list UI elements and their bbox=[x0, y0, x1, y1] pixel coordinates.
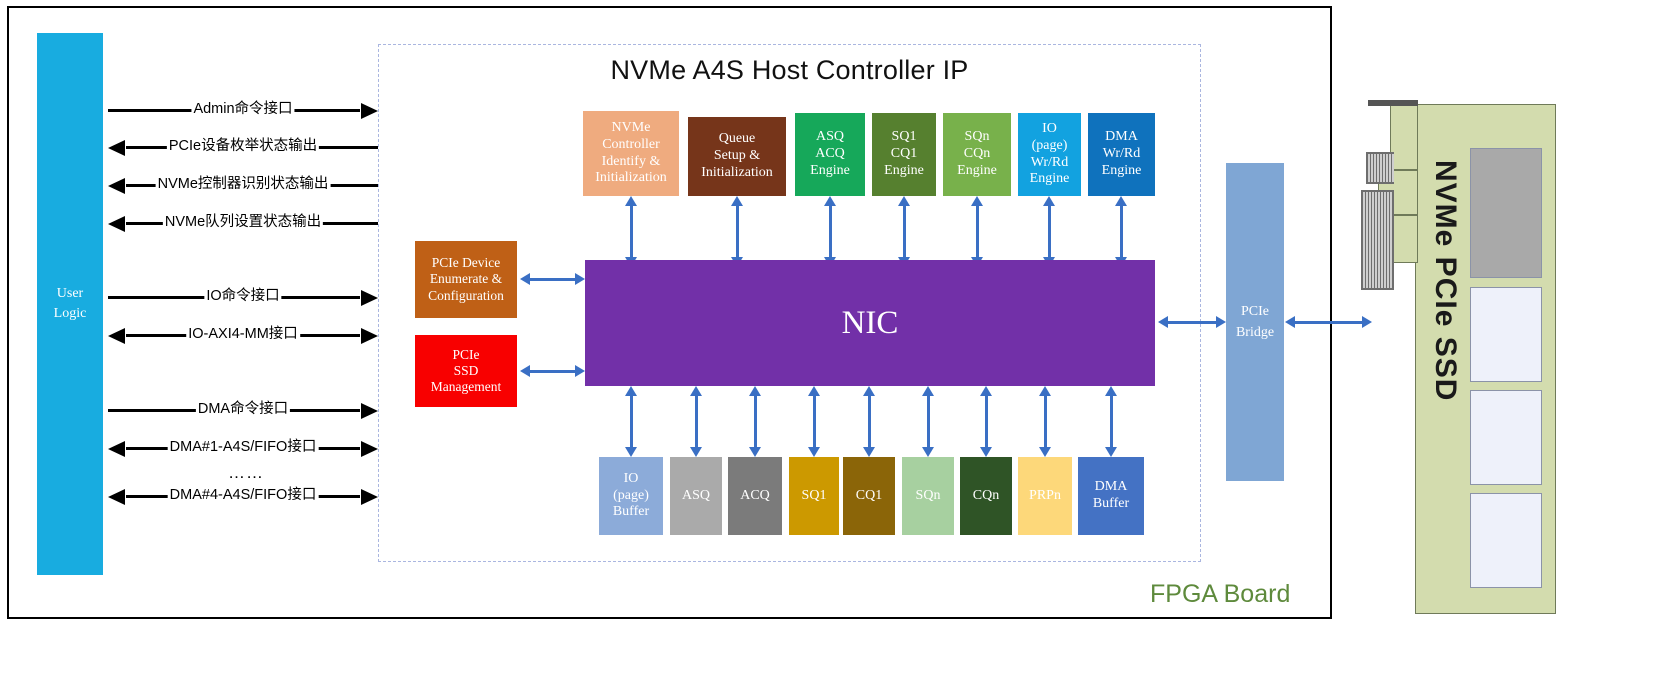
arrow-head-left bbox=[108, 441, 125, 457]
connector-line bbox=[1110, 395, 1113, 448]
connector-arrow-up bbox=[1105, 386, 1117, 396]
connector-line bbox=[754, 395, 757, 448]
connector-arrow-right bbox=[1362, 316, 1372, 328]
connector-arrow-down bbox=[808, 447, 820, 457]
connector-arrow-up bbox=[731, 196, 743, 206]
engine-block: SQnCQnEngine bbox=[943, 113, 1011, 196]
connector-arrow-down bbox=[922, 447, 934, 457]
buffer-block: CQn bbox=[960, 457, 1012, 535]
connector-line bbox=[1044, 395, 1047, 448]
connector-arrow-up bbox=[749, 386, 761, 396]
engine-block-label: SQnCQnEngine bbox=[957, 129, 997, 179]
connector-arrow-up bbox=[808, 386, 820, 396]
engine-block-label: SQ1CQ1Engine bbox=[884, 129, 924, 179]
connector-line bbox=[985, 395, 988, 448]
ssd-chip bbox=[1470, 287, 1542, 382]
ellipsis-label: …… bbox=[228, 463, 264, 483]
connector-arrow-down bbox=[1039, 447, 1051, 457]
connector-arrow-up bbox=[1039, 386, 1051, 396]
connector-line bbox=[976, 205, 979, 258]
connector-line bbox=[695, 395, 698, 448]
engine-block-label: QueueSetup &Initialization bbox=[701, 131, 773, 181]
interface-label: PCIe设备枚举状态输出 bbox=[167, 134, 319, 155]
engine-block: ASQACQEngine bbox=[795, 113, 865, 196]
connector-arrow-up bbox=[971, 196, 983, 206]
arrow-head-left bbox=[108, 178, 125, 194]
connector-arrow-down bbox=[690, 447, 702, 457]
connector-line bbox=[736, 205, 739, 258]
ssd-bracket-lower bbox=[1390, 215, 1418, 263]
engine-block-label: ASQACQEngine bbox=[810, 129, 850, 179]
interface-label: NVMe队列设置状态输出 bbox=[163, 210, 323, 231]
connector-line bbox=[903, 205, 906, 258]
connector-line bbox=[1167, 321, 1217, 324]
arrow-head-right bbox=[361, 290, 378, 306]
interface-label: Admin命令接口 bbox=[191, 97, 294, 118]
connector-arrow-up bbox=[922, 386, 934, 396]
connector-arrow-left bbox=[520, 365, 530, 377]
interface-arrow: IO命令接口 bbox=[108, 289, 378, 305]
user-logic-block: UserLogic bbox=[37, 33, 103, 575]
connector-arrow-right bbox=[575, 365, 585, 377]
interface-label: IO-AXI4-MM接口 bbox=[186, 322, 300, 343]
ssd-bracket-upper bbox=[1390, 104, 1418, 170]
connector-arrow-up bbox=[625, 386, 637, 396]
interface-arrow: NVMe控制器识别状态输出 bbox=[108, 177, 378, 193]
connector-line bbox=[1048, 205, 1051, 258]
ssd-bracket-tab bbox=[1368, 100, 1418, 106]
buffer-block: PRPn bbox=[1018, 457, 1072, 535]
engine-block: IO(page)Wr/RdEngine bbox=[1018, 113, 1081, 196]
engine-block-label: IO(page)Wr/RdEngine bbox=[1030, 121, 1070, 188]
connector-arrow-left bbox=[1158, 316, 1168, 328]
buffer-block-label: PRPn bbox=[1029, 488, 1061, 505]
connector-line bbox=[630, 205, 633, 258]
engine-block-label: DMAWr/RdEngine bbox=[1102, 129, 1142, 179]
connector-arrow-right bbox=[575, 273, 585, 285]
interface-arrow: DMA#4-A4S/FIFO接口 bbox=[108, 488, 378, 504]
ssd-chip bbox=[1470, 493, 1542, 588]
buffer-block: SQn bbox=[902, 457, 954, 535]
buffer-block: DMABuffer bbox=[1078, 457, 1144, 535]
connector-arrow-down bbox=[625, 447, 637, 457]
buffer-block-label: ASQ bbox=[682, 488, 710, 505]
user-logic-label: UserLogic bbox=[54, 284, 87, 325]
connector-arrow-down bbox=[749, 447, 761, 457]
connector-arrow-up bbox=[690, 386, 702, 396]
ssd-card-label: NVMe PCIe SSD bbox=[1428, 160, 1462, 401]
interface-label: DMA命令接口 bbox=[196, 397, 290, 418]
buffer-block-label: SQ1 bbox=[802, 488, 827, 505]
interface-arrow: IO-AXI4-MM接口 bbox=[108, 327, 378, 343]
arrow-head-right bbox=[361, 328, 378, 344]
interface-label: IO命令接口 bbox=[204, 284, 281, 305]
connector-arrow-up bbox=[1115, 196, 1127, 206]
connector-line bbox=[927, 395, 930, 448]
connector-arrow-up bbox=[898, 196, 910, 206]
connector-line bbox=[1294, 321, 1363, 324]
arrow-head-left bbox=[108, 216, 125, 232]
pcie-side-block-label: PCIe DeviceEnumerate &Configuration bbox=[428, 255, 504, 304]
buffer-block-label: CQ1 bbox=[856, 488, 882, 505]
connector-line bbox=[529, 370, 576, 373]
arrow-head-left bbox=[108, 328, 125, 344]
interface-arrow: DMA命令接口 bbox=[108, 402, 378, 418]
fpga-board-label: FPGA Board bbox=[1150, 580, 1290, 609]
engine-block: NVMeControllerIdentify &Initialization bbox=[583, 111, 679, 196]
connector-arrow-right bbox=[1216, 316, 1226, 328]
buffer-block-label: DMABuffer bbox=[1093, 479, 1129, 513]
nic-label: NIC bbox=[842, 305, 899, 342]
connector-arrow-down bbox=[1105, 447, 1117, 457]
arrow-head-right bbox=[361, 103, 378, 119]
interface-arrow: Admin命令接口 bbox=[108, 102, 378, 118]
engine-block: QueueSetup &Initialization bbox=[688, 117, 786, 196]
connector-arrow-up bbox=[863, 386, 875, 396]
connector-line bbox=[829, 205, 832, 258]
buffer-block: IO(page)Buffer bbox=[599, 457, 663, 535]
arrow-head-right bbox=[361, 441, 378, 457]
ssd-chip bbox=[1470, 390, 1542, 485]
pcie-side-block-label: PCIeSSDManagement bbox=[431, 347, 501, 396]
diagram-canvas: NVMe A4S Host Controller IP UserLogic Ad… bbox=[0, 0, 1661, 673]
arrow-head-right bbox=[361, 403, 378, 419]
connector-arrow-up bbox=[625, 196, 637, 206]
connector-arrow-down bbox=[980, 447, 992, 457]
connector-line bbox=[529, 278, 576, 281]
interface-label: DMA#4-A4S/FIFO接口 bbox=[168, 483, 319, 504]
arrow-head-left bbox=[108, 489, 125, 505]
engine-block: DMAWr/RdEngine bbox=[1088, 113, 1155, 196]
connector-line bbox=[1120, 205, 1123, 258]
pcie-side-block: PCIe DeviceEnumerate &Configuration bbox=[415, 241, 517, 318]
connector-line bbox=[630, 395, 633, 448]
connector-arrow-down bbox=[863, 447, 875, 457]
connector-arrow-up bbox=[1043, 196, 1055, 206]
buffer-block-label: ACQ bbox=[740, 488, 770, 505]
connector-arrow-left bbox=[520, 273, 530, 285]
connector-arrow-left bbox=[1285, 316, 1295, 328]
buffer-block: ASQ bbox=[670, 457, 722, 535]
arrow-head-left bbox=[108, 140, 125, 156]
connector-arrow-up bbox=[980, 386, 992, 396]
engine-block-label: NVMeControllerIdentify &Initialization bbox=[595, 120, 667, 187]
buffer-block-label: IO(page)Buffer bbox=[613, 471, 649, 521]
interface-arrow: NVMe队列设置状态输出 bbox=[108, 215, 378, 231]
ssd-chip bbox=[1470, 148, 1542, 278]
interface-arrow: PCIe设备枚举状态输出 bbox=[108, 139, 378, 155]
connector-line bbox=[868, 395, 871, 448]
pcie-bridge-block: PCIeBridge bbox=[1226, 163, 1284, 481]
pcie-side-block: PCIeSSDManagement bbox=[415, 335, 517, 407]
ip-title: NVMe A4S Host Controller IP bbox=[378, 55, 1201, 86]
buffer-block-label: CQn bbox=[973, 488, 999, 505]
buffer-block: CQ1 bbox=[843, 457, 895, 535]
buffer-block-label: SQn bbox=[916, 488, 941, 505]
interface-arrow: DMA#1-A4S/FIFO接口 bbox=[108, 440, 378, 456]
connector-arrow-up bbox=[824, 196, 836, 206]
interface-label: DMA#1-A4S/FIFO接口 bbox=[168, 435, 319, 456]
connector-line bbox=[813, 395, 816, 448]
arrow-head-right bbox=[361, 489, 378, 505]
engine-block: SQ1CQ1Engine bbox=[872, 113, 936, 196]
pcie-bridge-label: PCIeBridge bbox=[1236, 301, 1274, 343]
nic-block: NIC bbox=[585, 260, 1155, 386]
buffer-block: ACQ bbox=[728, 457, 782, 535]
interface-label: NVMe控制器识别状态输出 bbox=[156, 172, 331, 193]
buffer-block: SQ1 bbox=[789, 457, 839, 535]
